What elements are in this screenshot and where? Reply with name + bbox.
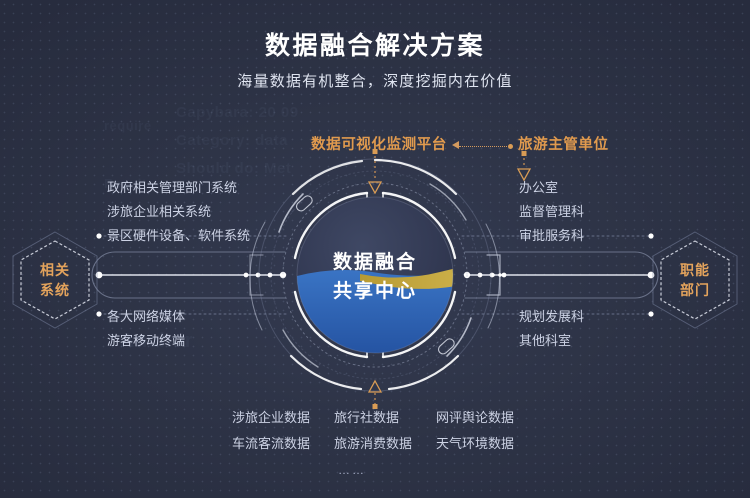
- connector-data-up: [369, 381, 381, 409]
- connector-layer: [0, 0, 750, 498]
- connector-platform-down: [369, 149, 381, 193]
- infographic-canvas: Capybara: 20 09 Category: data Should do…: [0, 0, 750, 498]
- connector-authority-down: [518, 151, 530, 180]
